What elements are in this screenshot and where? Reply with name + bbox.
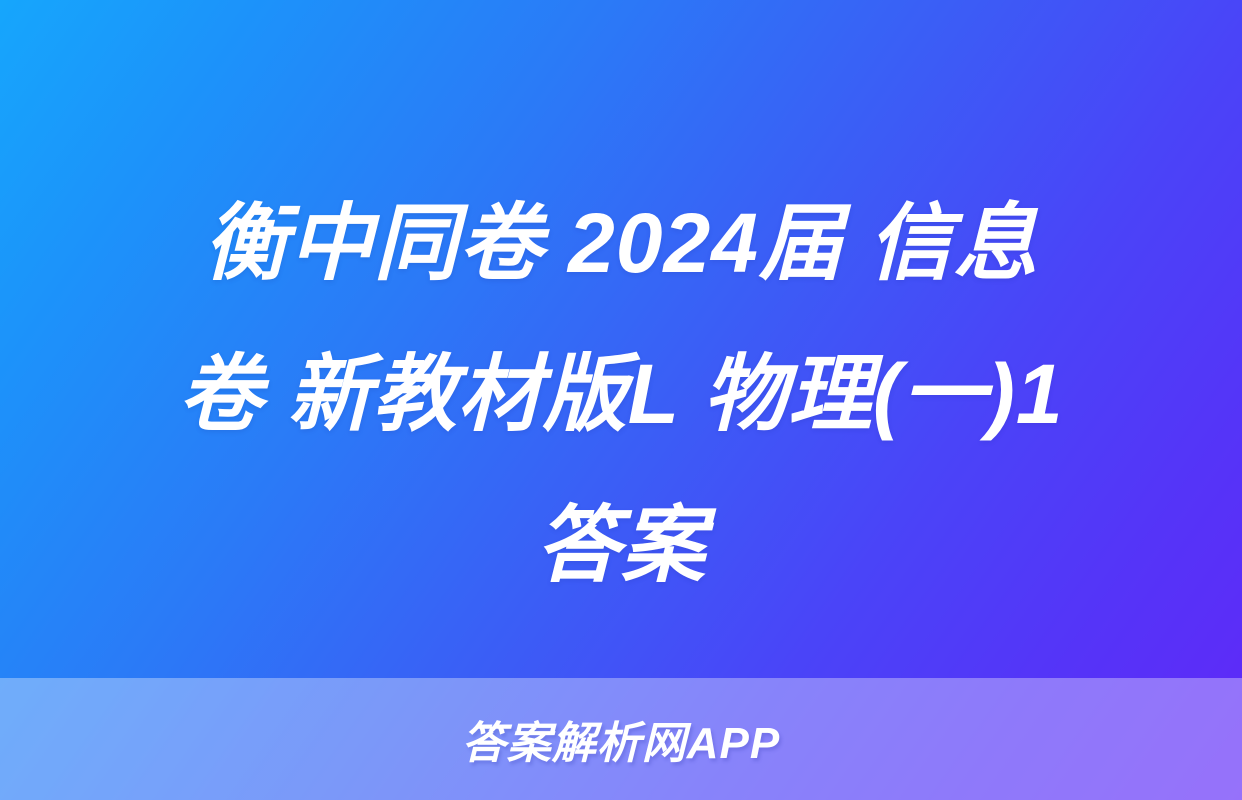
title-line-1: 衡中同卷 2024届 信息 <box>46 168 1196 319</box>
title-line-2: 卷 新教材版L 物理(一)1 <box>46 319 1196 470</box>
app-watermark-label: 答案解析网APP <box>462 707 780 771</box>
poster-canvas: 衡中同卷 2024届 信息 卷 新教材版L 物理(一)1 答案 答案解析网APP <box>0 0 1242 800</box>
title-line-3: 答案 <box>46 470 1196 621</box>
footer-watermark-band: 答案解析网APP <box>0 678 1242 800</box>
page-title: 衡中同卷 2024届 信息 卷 新教材版L 物理(一)1 答案 <box>0 168 1242 621</box>
